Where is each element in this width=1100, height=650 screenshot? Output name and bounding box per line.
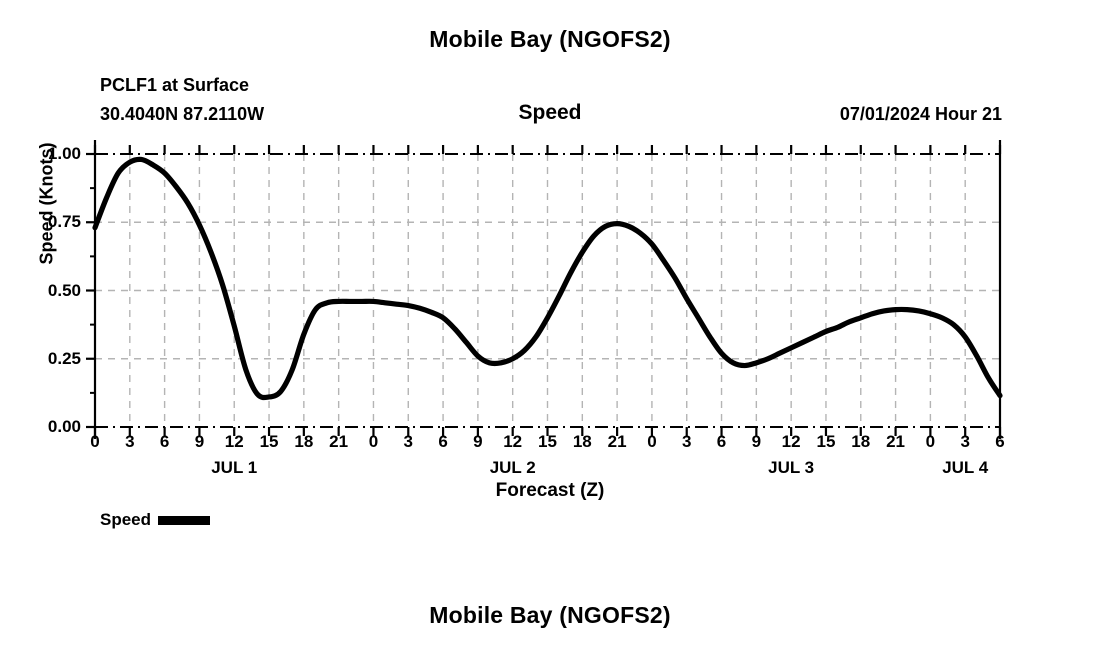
x-tick-label: 18 bbox=[848, 432, 874, 452]
x-tick-label: 9 bbox=[186, 432, 212, 452]
x-tick-label: 6 bbox=[987, 432, 1013, 452]
y-tick-label: 0.50 bbox=[23, 281, 81, 301]
x-tick-label: 0 bbox=[360, 432, 386, 452]
y-tick-label: 0.00 bbox=[23, 417, 81, 437]
x-tick-label: 21 bbox=[883, 432, 909, 452]
x-tick-label: 15 bbox=[256, 432, 282, 452]
x-day-label: JUL 4 bbox=[925, 458, 1005, 478]
x-tick-label: 6 bbox=[152, 432, 178, 452]
speed-line-chart bbox=[0, 0, 1100, 650]
x-tick-label: 6 bbox=[430, 432, 456, 452]
x-tick-label: 3 bbox=[117, 432, 143, 452]
x-tick-label: 9 bbox=[465, 432, 491, 452]
y-tick-label: 0.25 bbox=[23, 349, 81, 369]
x-day-label: JUL 2 bbox=[473, 458, 553, 478]
chart-page: Mobile Bay (NGOFS2) PCLF1 at Surface 30.… bbox=[0, 0, 1100, 650]
x-tick-label: 3 bbox=[952, 432, 978, 452]
x-tick-label: 12 bbox=[778, 432, 804, 452]
x-tick-label: 12 bbox=[500, 432, 526, 452]
x-tick-label: 0 bbox=[82, 432, 108, 452]
x-tick-label: 3 bbox=[674, 432, 700, 452]
x-tick-label: 21 bbox=[326, 432, 352, 452]
x-tick-label: 21 bbox=[604, 432, 630, 452]
y-tick-label: 0.75 bbox=[23, 212, 81, 232]
x-tick-label: 15 bbox=[813, 432, 839, 452]
x-day-label: JUL 3 bbox=[751, 458, 831, 478]
page-title-bottom: Mobile Bay (NGOFS2) bbox=[0, 602, 1100, 629]
x-tick-label: 6 bbox=[709, 432, 735, 452]
x-tick-label: 0 bbox=[639, 432, 665, 452]
x-tick-label: 18 bbox=[569, 432, 595, 452]
x-tick-label: 15 bbox=[535, 432, 561, 452]
x-day-label: JUL 1 bbox=[194, 458, 274, 478]
chart-legend: Speed bbox=[100, 510, 210, 530]
x-tick-label: 0 bbox=[917, 432, 943, 452]
legend-swatch-speed bbox=[158, 516, 210, 525]
legend-label-speed: Speed bbox=[100, 510, 151, 530]
x-tick-label: 9 bbox=[743, 432, 769, 452]
y-tick-label: 1.00 bbox=[23, 144, 81, 164]
x-tick-label: 18 bbox=[291, 432, 317, 452]
x-tick-label: 12 bbox=[221, 432, 247, 452]
x-tick-label: 3 bbox=[395, 432, 421, 452]
